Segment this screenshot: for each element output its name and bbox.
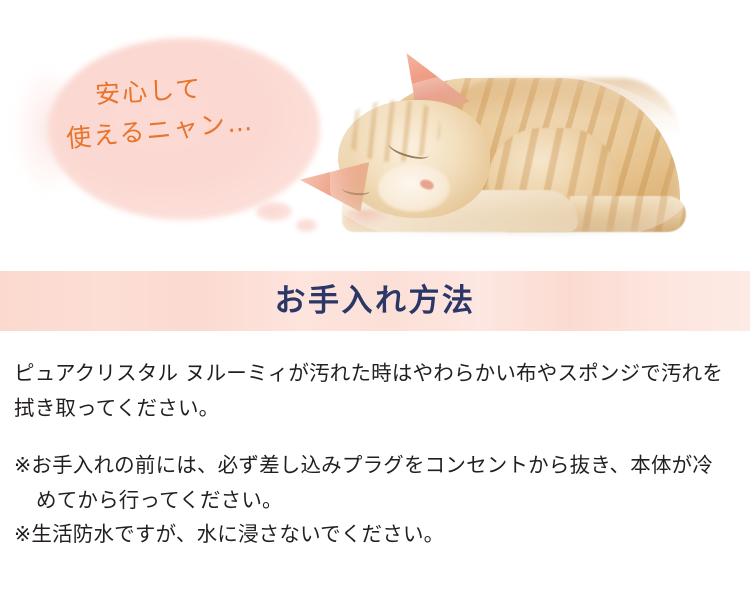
kitten-paw-toes [346,210,388,228]
product-care-page: { "page": { "background_color": "#ffffff… [0,0,750,594]
note-1-line-1: ※お手入れの前には、必ず差し込みプラグをコンセントから抜き、本体が冷 [14,448,736,483]
page-title: お手入れ方法 [275,286,476,317]
hero-section: 安心して 使えるニャン… [0,0,750,270]
note-1-line-2: めてから行ってください。 [14,483,736,518]
note-item-1: ※お手入れの前には、必ず差し込みプラグをコンセントから抜き、本体が冷 めてから行… [14,426,736,553]
sleeping-kitten-image [300,42,750,270]
lead-paragraph: ピュアクリスタル ヌルーミィが汚れた時はやわらかい布やスポンジで汚れを拭き取って… [14,331,736,426]
kitten-muzzle [378,164,450,212]
section-heading-band: お手入れ方法 [0,271,750,331]
body-content: ピュアクリスタル ヌルーミィが汚れた時はやわらかい布やスポンジで汚れを拭き取って… [0,331,750,552]
note-2-line-1: ※生活防水ですが、水に浸さないでください。 [14,517,736,552]
thought-bubble-tail-large [256,202,292,221]
